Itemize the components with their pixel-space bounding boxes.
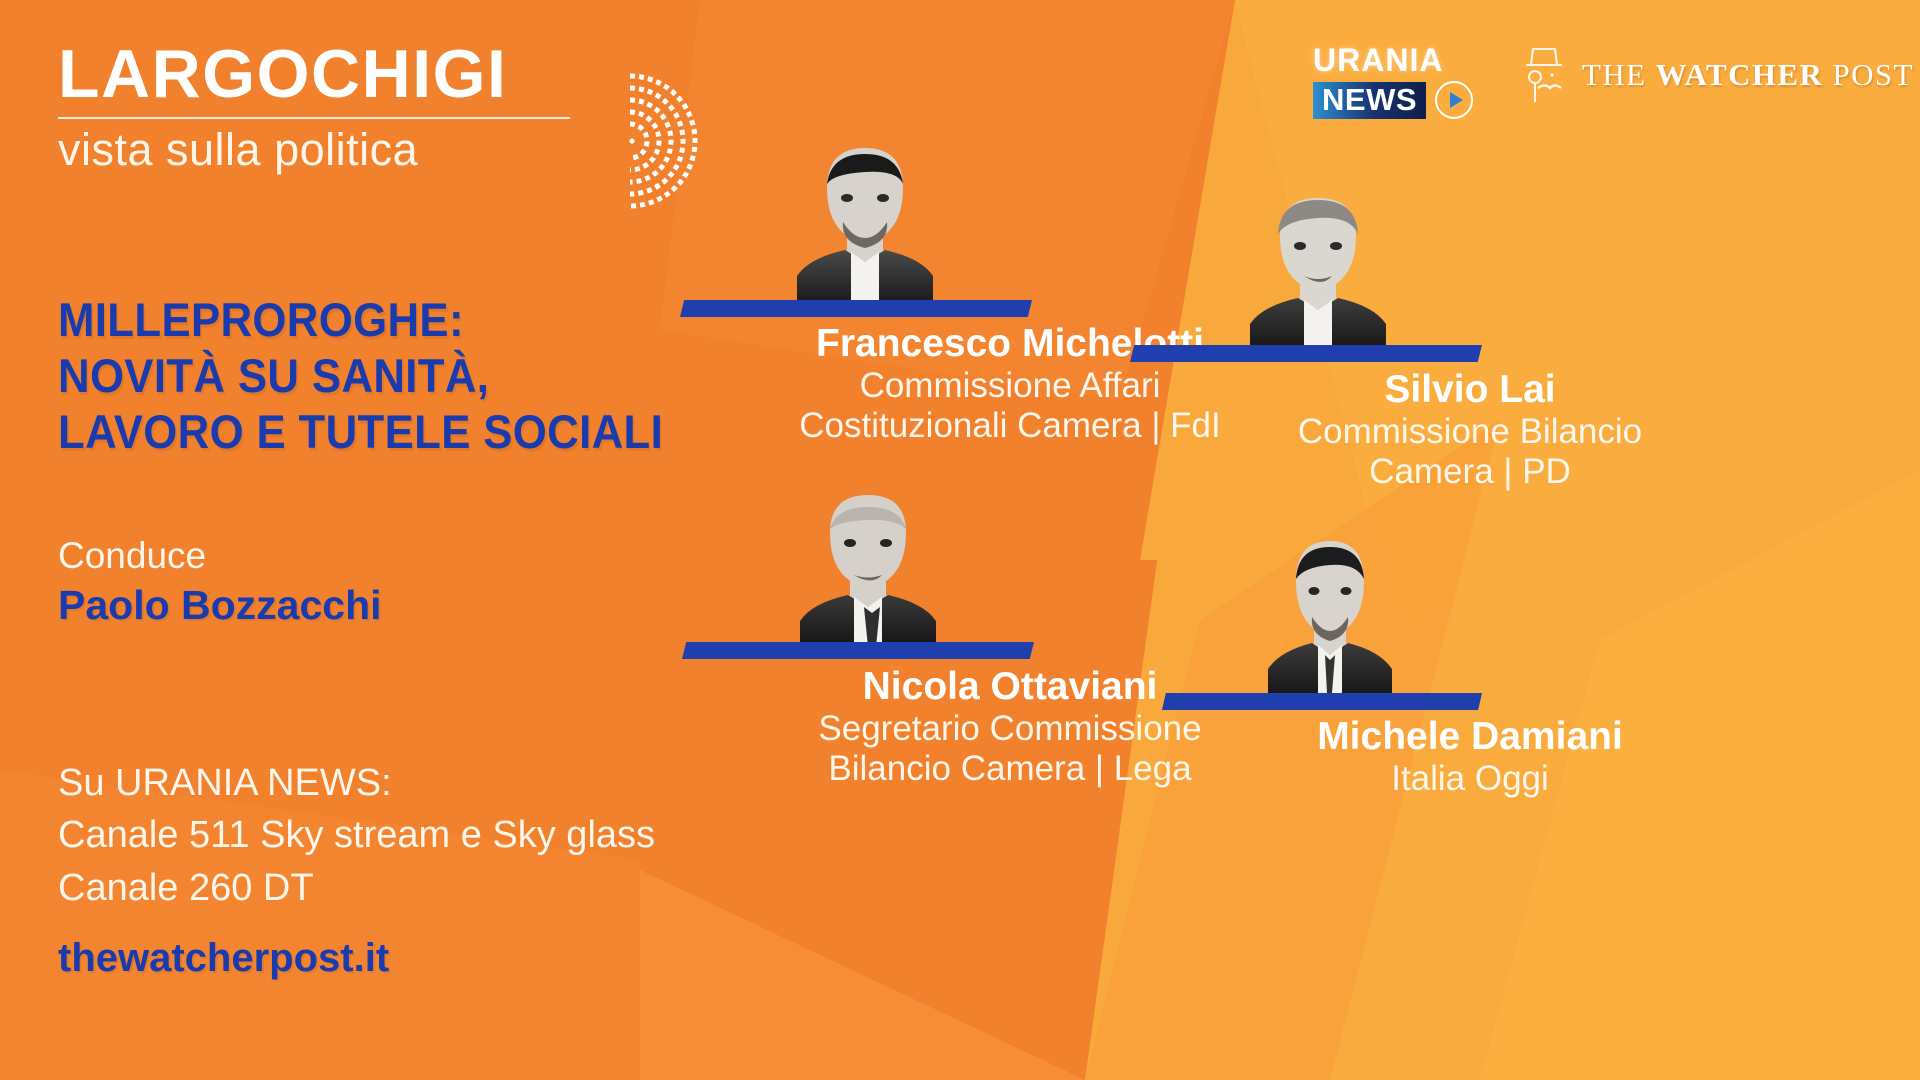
portrait-nicola-ottaviani xyxy=(770,487,965,652)
watcher-watcher: WATCHER xyxy=(1656,57,1824,92)
accent-bar xyxy=(1130,345,1482,362)
channel-line-2: Canale 511 Sky stream e Sky glass xyxy=(58,809,655,861)
panelist-caption: Michele Damiani Italia Oggi xyxy=(1110,715,1830,799)
panelist-role-line-2: Camera | PD xyxy=(1110,452,1830,492)
parliament-hemicycle-icon xyxy=(624,66,714,216)
watcher-post-wordmark: THE WATCHER POST xyxy=(1582,57,1914,93)
logo-tagline: vista sulla politica xyxy=(58,125,678,175)
website-url[interactable]: thewatcherpost.it xyxy=(58,936,655,981)
logo-divider xyxy=(58,117,570,119)
title-line-3: LAVORO E TUTELE SOCIALI xyxy=(58,404,765,460)
accent-bar xyxy=(682,642,1034,659)
play-circle-icon xyxy=(1435,81,1473,119)
host-name: Paolo Bozzacchi xyxy=(58,579,382,632)
promo-graphic: LARGOCHIGI vista sulla politica MILLEPRO… xyxy=(0,0,1920,1080)
accent-bar xyxy=(680,300,1032,317)
page-title: MILLEPROROGHE: NOVITÀ SU SANITÀ, LAVORO … xyxy=(58,292,765,460)
urania-news-badge: NEWS xyxy=(1313,82,1426,119)
portrait-michele-damiani xyxy=(1240,533,1420,703)
urania-news-logo: URANIA NEWS xyxy=(1313,44,1473,119)
panelist-name: Silvio Lai xyxy=(1110,368,1830,412)
portrait-francesco-michelotti xyxy=(765,140,965,310)
portrait-silvio-lai xyxy=(1220,190,1415,355)
host-block: Conduce Paolo Bozzacchi xyxy=(58,533,382,633)
top-hat-monocle-face-icon xyxy=(1522,44,1568,106)
channel-line-1: Su URANIA NEWS: xyxy=(58,757,655,809)
host-label: Conduce xyxy=(58,533,382,579)
title-line-1: MILLEPROROGHE: xyxy=(58,292,765,348)
largochigi-logo: LARGOCHIGI vista sulla politica xyxy=(58,40,678,175)
watcher-the: THE xyxy=(1582,57,1656,92)
channel-line-3: Canale 260 DT xyxy=(58,862,655,914)
the-watcher-post-logo: THE WATCHER POST xyxy=(1522,44,1914,106)
panelist-caption: Silvio Lai Commissione Bilancio Camera |… xyxy=(1110,368,1830,492)
panelist-role-line-1: Italia Oggi xyxy=(1110,759,1830,799)
channel-info: Su URANIA NEWS: Canale 511 Sky stream e … xyxy=(58,757,655,981)
logo-wordmark: LARGOCHIGI xyxy=(58,40,678,108)
panelist-role-line-1: Commissione Bilancio xyxy=(1110,412,1830,452)
panelist-name: Michele Damiani xyxy=(1110,715,1830,759)
title-line-2: NOVITÀ SU SANITÀ, xyxy=(58,348,765,404)
watcher-post: POST xyxy=(1823,57,1914,92)
urania-wordmark: URANIA xyxy=(1313,44,1473,76)
accent-bar xyxy=(1162,693,1482,710)
